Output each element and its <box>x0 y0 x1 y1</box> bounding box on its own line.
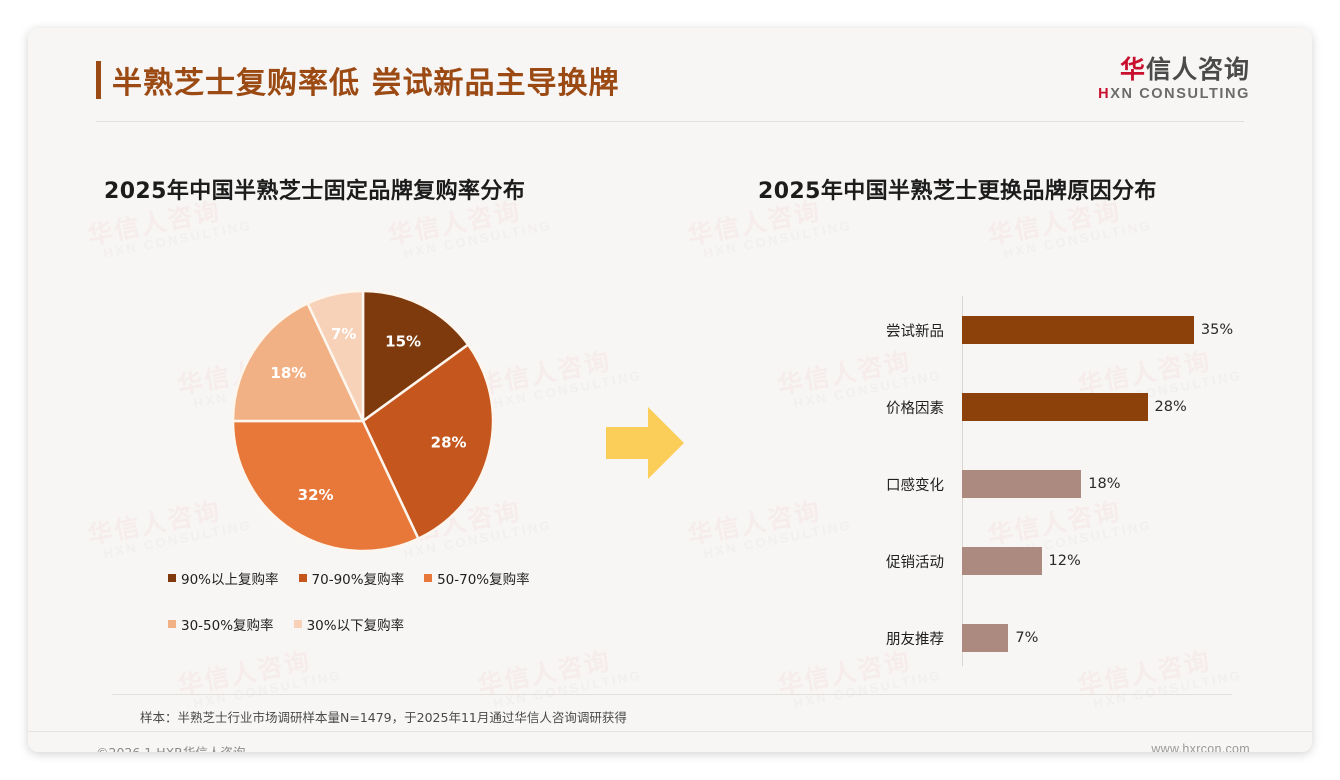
bar-fill[interactable] <box>962 316 1194 344</box>
logo-english-text: HXN CONSULTING <box>1098 87 1250 103</box>
watermark-cn: 华信人咨询 <box>686 493 851 550</box>
page-title: 半熟芝士复购率低 尝试新品主导换牌 <box>112 58 619 102</box>
bar-row: 口感变化18% <box>864 466 1264 502</box>
flow-arrow-icon <box>606 403 684 483</box>
watermark-en: HXN CONSULTING <box>792 669 943 711</box>
pie-slice-label: 7% <box>331 325 356 343</box>
company-logo: 华信人咨询 HXN CONSULTING <box>1098 56 1250 102</box>
pie-chart: 15%28%32%18%7% <box>218 286 508 556</box>
pie-slice-label: 18% <box>270 364 306 382</box>
logo-en-first: H <box>1098 86 1110 102</box>
pie-slice-label: 28% <box>431 433 467 451</box>
bar-fill[interactable] <box>962 624 1008 652</box>
footnote-divider <box>112 694 1232 695</box>
legend-swatch-icon <box>424 574 432 582</box>
legend-label: 30%以下复购率 <box>307 614 405 634</box>
legend-swatch-icon <box>168 574 176 582</box>
title-accent-bar <box>96 61 101 99</box>
slide-header: 半熟芝士复购率低 尝试新品主导换牌 华信人咨询 HXN CONSULTING <box>28 28 1312 121</box>
bar-track: 18% <box>962 466 1264 502</box>
watermark: 华信人咨询HXN CONSULTING <box>686 493 854 563</box>
bar-value-label: 28% <box>1155 399 1187 415</box>
bar-row: 尝试新品35% <box>864 312 1264 348</box>
legend-label: 90%以上复购率 <box>181 568 279 588</box>
bar-category-label: 口感变化 <box>864 474 954 495</box>
bar-row: 朋友推荐7% <box>864 620 1264 656</box>
bar-chart-title: 2025年中国半熟芝士更换品牌原因分布 <box>758 173 1157 205</box>
bar-row: 促销活动12% <box>864 543 1264 579</box>
source-footnote: 样本：半熟芝士行业市场调研样本量N=1479，于2025年11月通过华信人咨询调… <box>140 707 627 726</box>
footer-website: www.hxrcon.com <box>1151 742 1250 752</box>
header-divider <box>96 121 1244 122</box>
bar-value-label: 12% <box>1049 553 1081 569</box>
bar-category-label: 朋友推荐 <box>864 628 954 649</box>
bar-value-label: 35% <box>1201 322 1233 338</box>
watermark-en: HXN CONSULTING <box>402 219 553 261</box>
bar-fill[interactable] <box>962 470 1081 498</box>
bar-chart: 尝试新品35%价格因素28%口感变化18%促销活动12%朋友推荐7% <box>864 296 1264 666</box>
legend-item[interactable]: 50-70%复购率 <box>424 568 530 588</box>
bar-fill[interactable] <box>962 393 1148 421</box>
legend-swatch-icon <box>168 620 176 628</box>
footer-copyright: ©2026.1 HXR华信人咨询 <box>96 742 245 752</box>
bar-value-label: 7% <box>1015 630 1038 646</box>
watermark-en: HXN CONSULTING <box>702 219 853 261</box>
slide-frame: 华信人咨询HXN CONSULTING华信人咨询HXN CONSULTING华信… <box>28 28 1312 752</box>
legend-item[interactable]: 30-50%复购率 <box>168 614 274 634</box>
bar-value-label: 18% <box>1088 476 1120 492</box>
logo-chinese-text: 华信人咨询 <box>1098 56 1250 84</box>
legend-swatch-icon <box>299 574 307 582</box>
bar-track: 12% <box>962 543 1264 579</box>
legend-label: 50-70%复购率 <box>437 568 530 588</box>
legend-label: 70-90%复购率 <box>312 568 405 588</box>
footer-divider <box>28 731 1312 732</box>
watermark-en: HXN CONSULTING <box>702 519 853 561</box>
watermark-en: HXN CONSULTING <box>1002 219 1153 261</box>
legend-item[interactable]: 30%以下复购率 <box>294 614 405 634</box>
pie-chart-title: 2025年中国半熟芝士固定品牌复购率分布 <box>104 173 525 205</box>
bar-category-label: 尝试新品 <box>864 320 954 341</box>
bar-fill[interactable] <box>962 547 1042 575</box>
bar-track: 7% <box>962 620 1264 656</box>
logo-cn-rest: 信人咨询 <box>1146 55 1250 84</box>
bar-row: 价格因素28% <box>864 389 1264 425</box>
legend-item[interactable]: 90%以上复购率 <box>168 568 279 588</box>
legend-swatch-icon <box>294 620 302 628</box>
watermark-en: HXN CONSULTING <box>492 669 643 711</box>
watermark-en: HXN CONSULTING <box>1092 669 1243 711</box>
legend-item[interactable]: 70-90%复购率 <box>299 568 405 588</box>
bar-category-label: 价格因素 <box>864 397 954 418</box>
pie-slice-label: 15% <box>385 333 421 351</box>
legend-row: 90%以上复购率70-90%复购率50-70%复购率 <box>168 568 598 588</box>
logo-en-rest: XN CONSULTING <box>1110 86 1250 102</box>
pie-chart-legend: 90%以上复购率70-90%复购率50-70%复购率30-50%复购率30%以下… <box>168 568 598 660</box>
bar-track: 28% <box>962 389 1264 425</box>
watermark-en: HXN CONSULTING <box>192 669 343 711</box>
bar-track: 35% <box>962 312 1264 348</box>
watermark-en: HXN CONSULTING <box>102 219 253 261</box>
logo-cn-first: 华 <box>1120 55 1146 84</box>
legend-label: 30-50%复购率 <box>181 614 274 634</box>
pie-slice-label: 32% <box>298 486 334 504</box>
bar-category-label: 促销活动 <box>864 551 954 572</box>
legend-row: 30-50%复购率30%以下复购率 <box>168 614 598 634</box>
pie-chart-svg: 15%28%32%18%7% <box>218 286 508 556</box>
